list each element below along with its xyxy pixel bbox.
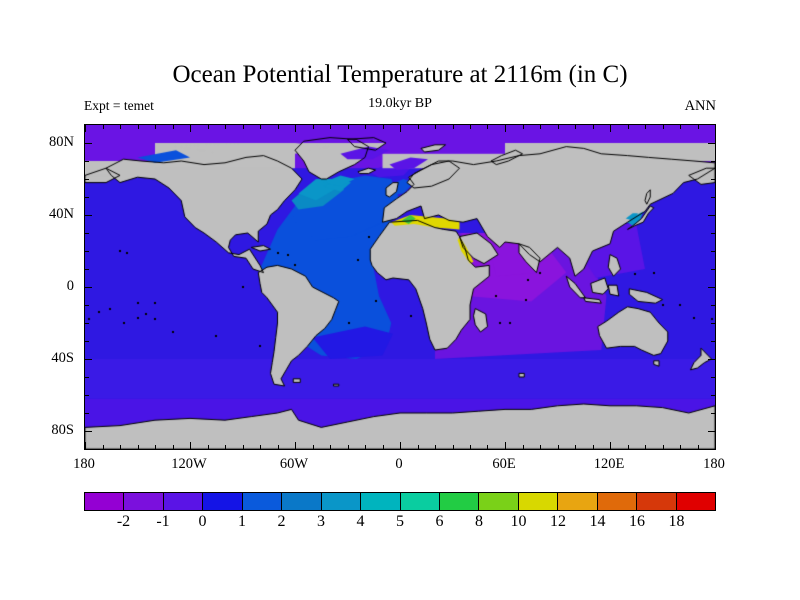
x-tick <box>365 445 366 449</box>
x-tick <box>470 445 471 449</box>
x-tick <box>155 125 156 129</box>
x-tick <box>540 445 541 449</box>
colorbar-tick-label: 18 <box>669 514 685 530</box>
x-axis-label: 180 <box>703 457 725 472</box>
colorbar <box>84 492 716 511</box>
x-tick <box>663 125 664 129</box>
y-tick <box>85 431 92 432</box>
x-tick <box>85 125 86 132</box>
x-tick <box>698 125 699 129</box>
x-tick <box>645 125 646 129</box>
x-tick <box>313 445 314 449</box>
map-plot-area <box>84 124 716 450</box>
x-tick <box>575 445 576 449</box>
x-tick <box>715 442 716 449</box>
y-tick <box>711 233 715 234</box>
x-tick <box>278 125 279 129</box>
x-tick <box>383 125 384 129</box>
x-tick <box>593 445 594 449</box>
y-axis-label: 80N <box>49 135 74 150</box>
y-tick <box>711 323 715 324</box>
colorbar-swatch <box>203 493 242 510</box>
x-tick <box>663 445 664 449</box>
y-tick <box>85 359 92 360</box>
colorbar-swatch <box>519 493 558 510</box>
colorbar-swatch <box>124 493 163 510</box>
y-tick <box>711 197 715 198</box>
x-tick <box>260 445 261 449</box>
x-tick <box>400 125 401 132</box>
x-tick <box>453 445 454 449</box>
x-tick <box>348 125 349 129</box>
x-tick <box>523 125 524 129</box>
x-tick <box>558 125 559 129</box>
y-tick <box>85 305 89 306</box>
colorbar-swatch <box>637 493 676 510</box>
colorbar-tick-label: 10 <box>511 514 527 530</box>
x-tick <box>155 445 156 449</box>
x-tick <box>243 445 244 449</box>
colorbar-swatch <box>243 493 282 510</box>
y-tick <box>708 287 715 288</box>
x-tick <box>190 125 191 132</box>
colorbar-tick-label: -1 <box>156 514 169 530</box>
x-tick <box>295 442 296 449</box>
x-tick <box>173 445 174 449</box>
x-tick <box>540 125 541 129</box>
colorbar-swatch <box>361 493 400 510</box>
x-tick <box>103 445 104 449</box>
y-tick <box>85 251 89 252</box>
colorbar-tick-label: 14 <box>590 514 606 530</box>
y-tick <box>711 161 715 162</box>
colorbar-tick-label: 12 <box>550 514 566 530</box>
colorbar-tick-label: 3 <box>317 514 325 530</box>
x-tick <box>435 125 436 129</box>
colorbar-swatch <box>401 493 440 510</box>
colorbar-swatch <box>322 493 361 510</box>
y-tick <box>85 395 89 396</box>
y-tick <box>708 143 715 144</box>
y-axis-label: 0 <box>67 279 74 294</box>
colorbar-tick-label: 8 <box>475 514 483 530</box>
x-tick <box>698 445 699 449</box>
x-tick <box>610 442 611 449</box>
x-tick <box>628 445 629 449</box>
colorbar-swatch <box>282 493 321 510</box>
x-tick <box>208 125 209 129</box>
y-tick <box>85 269 89 270</box>
y-tick <box>85 179 89 180</box>
x-tick <box>330 445 331 449</box>
colorbar-swatch <box>479 493 518 510</box>
colorbar-tick-label: 16 <box>629 514 645 530</box>
y-tick <box>85 287 92 288</box>
x-tick <box>138 445 139 449</box>
x-tick <box>383 445 384 449</box>
x-tick <box>558 445 559 449</box>
x-tick <box>487 445 488 449</box>
x-tick <box>330 125 331 129</box>
y-tick <box>85 341 89 342</box>
y-tick <box>708 431 715 432</box>
x-tick <box>348 445 349 449</box>
x-tick <box>103 125 104 129</box>
x-tick <box>453 125 454 129</box>
x-tick <box>487 125 488 129</box>
x-tick <box>645 445 646 449</box>
colorbar-tick-label: 2 <box>278 514 286 530</box>
x-tick <box>120 445 121 449</box>
colorbar-swatch <box>677 493 715 510</box>
x-tick <box>610 125 611 132</box>
y-tick <box>85 323 89 324</box>
y-tick <box>711 269 715 270</box>
x-tick <box>418 125 419 129</box>
x-tick <box>365 125 366 129</box>
y-tick <box>85 143 92 144</box>
x-tick <box>505 442 506 449</box>
y-axis-label: 40N <box>49 207 74 222</box>
x-tick <box>470 125 471 129</box>
y-tick <box>85 215 92 216</box>
x-tick <box>278 445 279 449</box>
x-tick <box>85 442 86 449</box>
x-tick <box>225 125 226 129</box>
x-tick <box>575 125 576 129</box>
x-tick <box>435 445 436 449</box>
y-tick <box>711 377 715 378</box>
y-tick <box>711 341 715 342</box>
x-tick <box>260 125 261 129</box>
x-tick <box>243 125 244 129</box>
figure-root: Ocean Potential Temperature at 2116m (in… <box>0 0 800 600</box>
x-axis-label: 60W <box>280 457 308 472</box>
colorbar-swatch <box>85 493 124 510</box>
x-tick <box>208 445 209 449</box>
x-axis-label: 180 <box>73 457 95 472</box>
page-title: Ocean Potential Temperature at 2116m (in… <box>0 62 800 87</box>
y-tick <box>85 197 89 198</box>
y-tick <box>711 305 715 306</box>
x-tick <box>120 125 121 129</box>
x-tick <box>418 445 419 449</box>
x-axis-label: 60E <box>492 457 515 472</box>
y-tick <box>85 413 89 414</box>
x-tick <box>138 125 139 129</box>
colorbar-swatch <box>164 493 203 510</box>
colorbar-tick-label: 4 <box>357 514 365 530</box>
y-axis-label: 40S <box>51 351 74 366</box>
x-tick <box>680 125 681 129</box>
y-tick <box>708 359 715 360</box>
x-axis-label: 0 <box>395 457 402 472</box>
colorbar-tick-label: 0 <box>199 514 207 530</box>
colorbar-swatch <box>440 493 479 510</box>
x-tick <box>173 125 174 129</box>
x-tick <box>295 125 296 132</box>
y-tick <box>711 413 715 414</box>
x-tick <box>505 125 506 132</box>
x-axis-label: 120E <box>594 457 625 472</box>
y-tick <box>711 179 715 180</box>
ocean-temperature-heatmap <box>85 125 715 449</box>
x-tick <box>593 125 594 129</box>
colorbar-swatch <box>558 493 597 510</box>
y-tick <box>85 377 89 378</box>
y-tick <box>708 215 715 216</box>
y-tick <box>711 251 715 252</box>
colorbar-tick-label: 5 <box>396 514 404 530</box>
y-tick <box>711 395 715 396</box>
x-axis-label: 120W <box>171 457 206 472</box>
y-tick <box>85 161 89 162</box>
colorbar-tick-label: 1 <box>238 514 246 530</box>
x-tick <box>715 125 716 132</box>
experiment-label: Expt = temet <box>84 99 154 113</box>
colorbar-tick-label: 6 <box>436 514 444 530</box>
x-tick <box>628 125 629 129</box>
colorbar-tick-label: -2 <box>117 514 130 530</box>
x-tick <box>225 445 226 449</box>
colorbar-swatch <box>598 493 637 510</box>
x-tick <box>523 445 524 449</box>
x-tick <box>190 442 191 449</box>
x-tick <box>680 445 681 449</box>
x-tick <box>400 442 401 449</box>
y-tick <box>85 233 89 234</box>
y-axis-label: 80S <box>51 423 74 438</box>
x-tick <box>313 125 314 129</box>
season-label: ANN <box>685 99 716 114</box>
